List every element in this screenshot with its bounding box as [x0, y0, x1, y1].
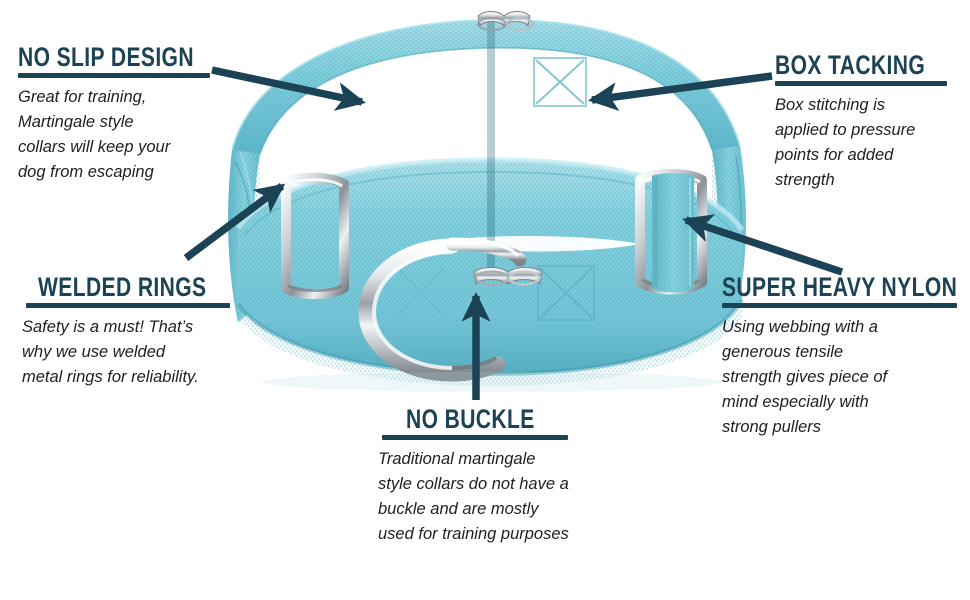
callout-body: Using webbing with a generous tensile st… — [722, 315, 962, 440]
title-underline — [722, 303, 957, 308]
title-underline — [18, 73, 210, 78]
callout-title: SUPER HEAVY NYLON — [722, 272, 962, 302]
callout-box-tacking: BOX TACKING Box stitching is applied to … — [775, 50, 965, 193]
right-strap-tab — [652, 173, 696, 293]
infographic-canvas: NO SLIP DESIGN Great for training, Marti… — [0, 0, 970, 600]
callout-title: NO BUCKLE — [378, 404, 646, 434]
callout-super-heavy-nylon: SUPER HEAVY NYLON Using webbing with a g… — [722, 272, 962, 440]
callout-welded-rings: WELDED RINGS Safety is a must! That’s wh… — [22, 272, 262, 390]
callout-body: Great for training, Martingale style col… — [18, 85, 233, 185]
callout-body: Box stitching is applied to pressure poi… — [775, 93, 965, 193]
callout-body: Traditional martingale style collars do … — [378, 447, 646, 547]
callout-no-buckle: NO BUCKLE Traditional martingale style c… — [378, 404, 646, 547]
callout-no-slip-design: NO SLIP DESIGN Great for training, Marti… — [18, 42, 233, 185]
callout-title: NO SLIP DESIGN — [18, 42, 233, 72]
title-underline — [26, 303, 230, 308]
title-underline — [775, 81, 947, 86]
title-underline — [382, 435, 568, 440]
callout-title: BOX TACKING — [775, 50, 965, 80]
callout-body: Safety is a must! That’s why we use weld… — [22, 315, 262, 390]
callout-title: WELDED RINGS — [22, 272, 262, 302]
